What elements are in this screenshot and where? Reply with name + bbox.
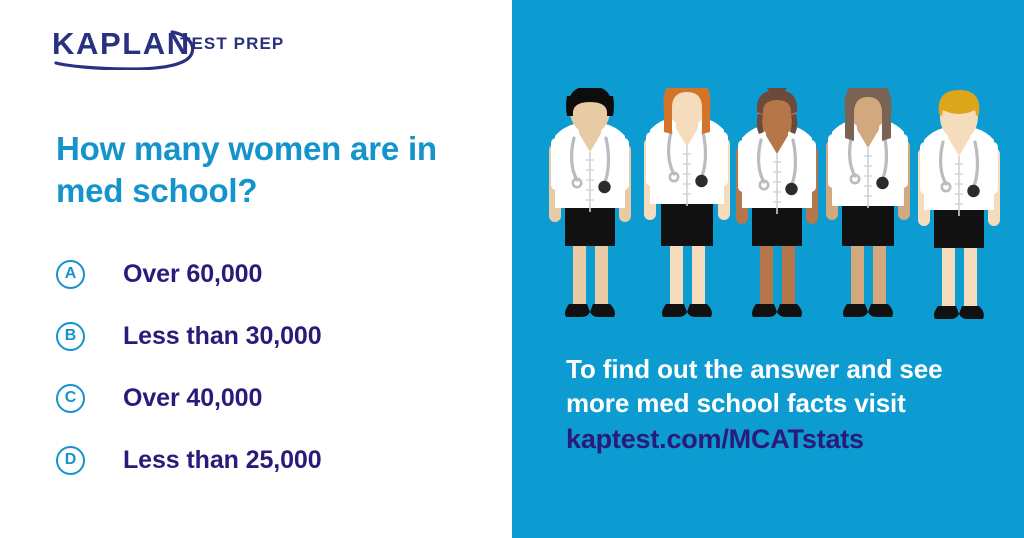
page-title: How many women are in med school? bbox=[56, 128, 476, 211]
option-badge-c: C bbox=[56, 384, 85, 413]
doctor-figure-4 bbox=[826, 88, 910, 317]
option-label-d: Less than 25,000 bbox=[123, 446, 322, 475]
doctor-figure-5 bbox=[918, 90, 1000, 319]
option-badge-d: D bbox=[56, 446, 85, 475]
cta-url-link[interactable]: kaptest.com/MCATstats bbox=[566, 422, 1006, 458]
option-label-a: Over 60,000 bbox=[123, 260, 262, 289]
answer-option-c[interactable]: C Over 40,000 bbox=[56, 367, 486, 429]
right-promo-panel: To find out the answer and see more med … bbox=[512, 0, 1024, 538]
answer-option-a[interactable]: A Over 60,000 bbox=[56, 243, 486, 305]
answer-options-list: A Over 60,000 B Less than 30,000 C Over … bbox=[56, 243, 486, 491]
poster-canvas: KAPLAN TEST PREP How many women are in m… bbox=[0, 0, 1024, 538]
cta-line-2: more med school facts visit bbox=[566, 386, 1006, 420]
doctor-figure-1 bbox=[549, 88, 631, 317]
logo-tagline: TEST PREP bbox=[180, 35, 284, 52]
doctor-figure-2 bbox=[644, 88, 730, 317]
logo-wordmark: KAPLAN bbox=[52, 28, 191, 59]
option-label-b: Less than 30,000 bbox=[123, 322, 322, 351]
option-badge-a: A bbox=[56, 260, 85, 289]
answer-option-d[interactable]: D Less than 25,000 bbox=[56, 429, 486, 491]
kaplan-logo[interactable]: KAPLAN TEST PREP bbox=[52, 26, 302, 70]
option-label-c: Over 40,000 bbox=[123, 384, 262, 413]
cta-block: To find out the answer and see more med … bbox=[566, 352, 1006, 457]
option-badge-b: B bbox=[56, 322, 85, 351]
answer-option-b[interactable]: B Less than 30,000 bbox=[56, 305, 486, 367]
doctor-figure-3 bbox=[736, 88, 818, 317]
doctors-illustration bbox=[512, 88, 1024, 328]
cta-line-1: To find out the answer and see bbox=[566, 352, 1006, 386]
left-content-panel: KAPLAN TEST PREP How many women are in m… bbox=[0, 0, 512, 538]
